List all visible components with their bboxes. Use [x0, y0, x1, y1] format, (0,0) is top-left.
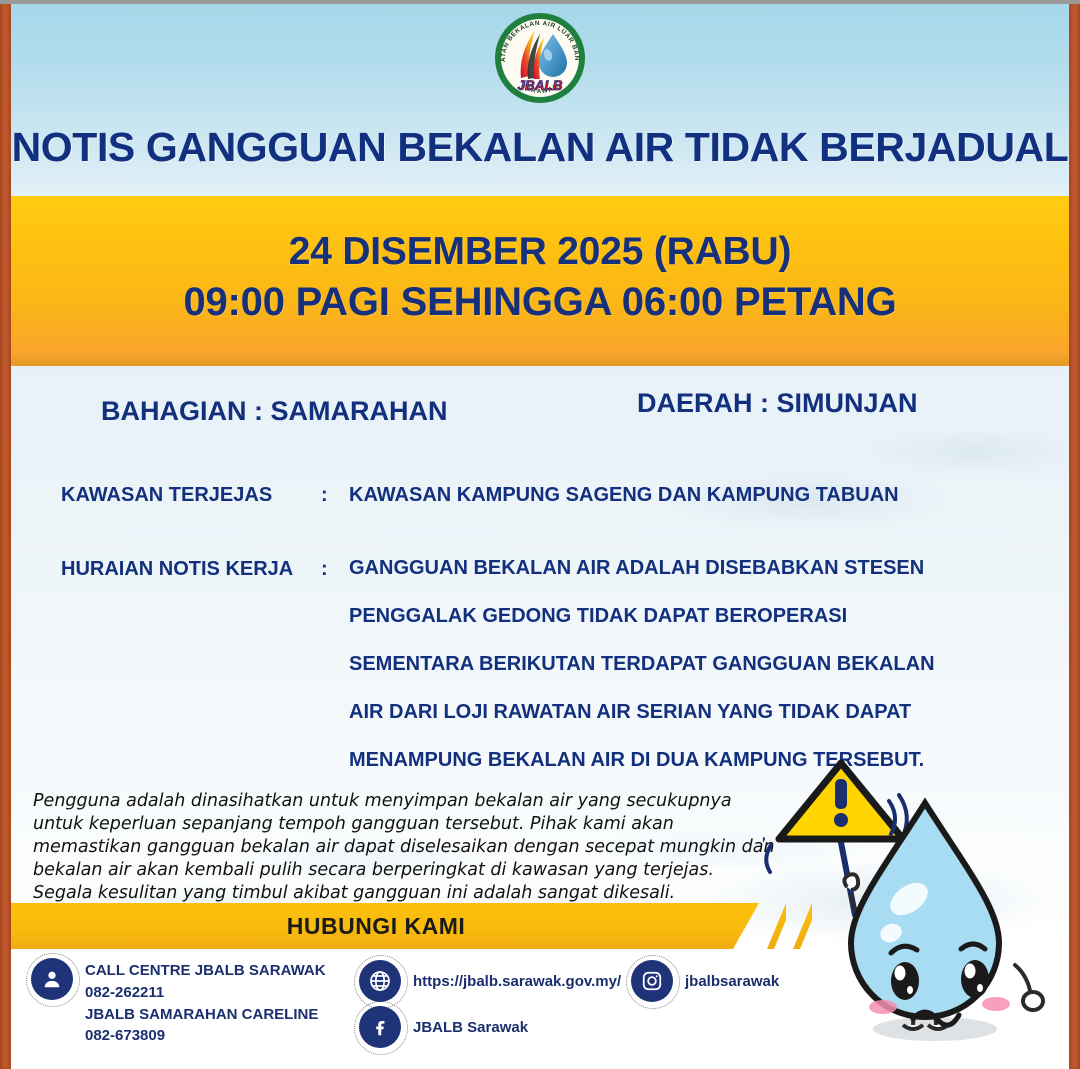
notice-time-range: 09:00 PAGI SEHINGGA 06:00 PETANG [183, 277, 896, 328]
top-hairline [0, 0, 1080, 4]
daerah-label: DAERAH : SIMUNJAN [637, 388, 918, 419]
notice-date: 24 DISEMBER 2025 (RABU) [289, 227, 792, 277]
svg-text:JBALB: JBALB [517, 78, 562, 93]
contacts-row: CALL CENTRE JBALB SARAWAK 082-262211 JBA… [11, 958, 1069, 1058]
call-centre-number: 082-262211 [85, 982, 326, 1004]
website-url: https://jbalb.sarawak.gov.my/ [413, 962, 621, 993]
huraian-line: GANGGUAN BEKALAN AIR ADALAH DISEBABKAN S… [349, 558, 935, 578]
instagram-icon [631, 960, 673, 1002]
left-border-rail [0, 0, 11, 1069]
call-centre-text: CALL CENTRE JBALB SARAWAK 082-262211 JBA… [85, 958, 326, 1047]
advisory-note: Pengguna adalah dinasihatkan untuk menyi… [33, 790, 778, 905]
date-time-band: 24 DISEMBER 2025 (RABU) 09:00 PAGI SEHIN… [11, 196, 1069, 366]
contact-call-centre[interactable]: CALL CENTRE JBALB SARAWAK 082-262211 JBA… [31, 958, 326, 1047]
contact-banner: HUBUNGI KAMI [11, 903, 1069, 951]
call-centre-name: CALL CENTRE JBALB SARAWAK [85, 960, 326, 982]
warning-triangle-exclamation [779, 763, 903, 839]
region-row: BAHAGIAN : SAMARAHAN DAERAH : SIMUNJAN [11, 396, 1069, 442]
bahagian-label: BAHAGIAN : SAMARAHAN [101, 396, 447, 427]
huraian-notis-kerja-label: HURAIAN NOTIS KERJA [61, 558, 293, 581]
water-disruption-notice-poster: JABATAN BEKALAN AIR LUAR BANDAR SARAWAK … [0, 0, 1080, 1069]
huraian-colon: : [321, 558, 328, 581]
contact-website[interactable]: https://jbalb.sarawak.gov.my/ [359, 960, 621, 1002]
facebook-page: JBALB Sarawak [413, 1008, 528, 1039]
contact-instagram[interactable]: jbalbsarawak [631, 960, 779, 1002]
contact-banner-bar: HUBUNGI KAMI [11, 903, 759, 949]
careline-number: 082-673809 [85, 1025, 326, 1047]
instagram-handle: jbalbsarawak [685, 962, 779, 993]
globe-icon [359, 960, 401, 1002]
facebook-text: JBALB Sarawak [413, 1006, 528, 1039]
website-text: https://jbalb.sarawak.gov.my/ [413, 960, 621, 993]
poster-header: JABATAN BEKALAN AIR LUAR BANDAR SARAWAK … [11, 4, 1069, 196]
facebook-icon [359, 1006, 401, 1048]
person-icon [31, 958, 73, 1000]
kawasan-terjejas-label: KAWASAN TERJEJAS [61, 484, 272, 507]
right-border-rail [1069, 0, 1080, 1069]
banner-accent-slash [767, 903, 786, 949]
huraian-notis-kerja-value: GANGGUAN BEKALAN AIR ADALAH DISEBABKAN S… [349, 558, 935, 770]
page-title: NOTIS GANGGUAN BEKALAN AIR TIDAK BERJADU… [11, 124, 1069, 171]
contact-facebook[interactable]: JBALB Sarawak [359, 1006, 528, 1048]
huraian-line: SEMENTARA BERIKUTAN TERDAPAT GANGGUAN BE… [349, 654, 935, 674]
contact-banner-label: HUBUNGI KAMI [287, 913, 484, 940]
poster-body: BAHAGIAN : SAMARAHAN DAERAH : SIMUNJAN K… [11, 366, 1069, 1065]
kawasan-colon: : [321, 484, 328, 507]
careline-name: JBALB SAMARAHAN CARELINE [85, 1004, 326, 1026]
huraian-line: AIR DARI LOJI RAWATAN AIR SERIAN YANG TI… [349, 702, 935, 722]
kawasan-terjejas-value: KAWASAN KAMPUNG SAGENG DAN KAMPUNG TABUA… [349, 484, 899, 507]
banner-accent-slash [793, 903, 812, 949]
huraian-line: PENGGALAK GEDONG TIDAK DAPAT BEROPERASI [349, 606, 935, 626]
jbalb-logo: JABATAN BEKALAN AIR LUAR BANDAR SARAWAK … [493, 6, 587, 106]
huraian-line: MENAMPUNG BEKALAN AIR DI DUA KAMPUNG TER… [349, 750, 935, 770]
instagram-text: jbalbsarawak [685, 960, 779, 993]
